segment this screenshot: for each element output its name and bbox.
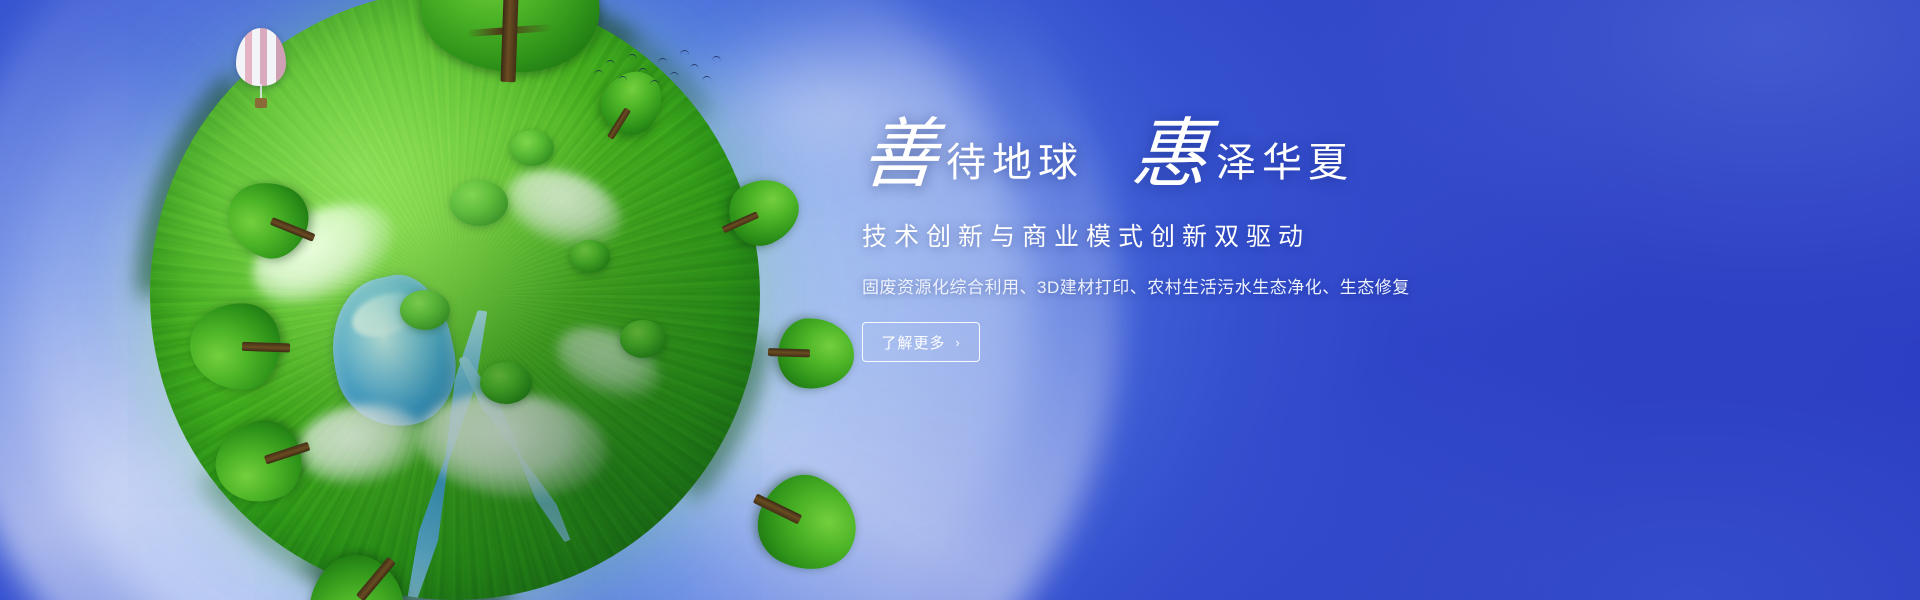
headline-phrase-1: 善 待地球	[862, 120, 1084, 191]
flock-of-birds	[592, 46, 722, 102]
headline-rest-zehuaxia: 泽华夏	[1216, 143, 1354, 191]
tree	[159, 299, 292, 391]
subtitle: 技术创新与商业模式创新双驱动	[862, 217, 1562, 253]
description: 固废资源化综合利用、3D建材打印、农村生活污水生态净化、生态修复	[862, 273, 1562, 298]
hot-air-balloon-icon	[236, 28, 286, 114]
hero-content: 善 待地球 惠 泽华夏 技术创新与商业模式创新双驱动 固废资源化综合利用、3D建…	[862, 120, 1562, 362]
learn-more-label: 了解更多	[881, 332, 945, 353]
headline: 善 待地球 惠 泽华夏	[862, 120, 1562, 191]
chevron-right-icon: ›	[955, 335, 960, 350]
hero-tree	[418, 0, 605, 85]
headline-phrase-2: 惠 泽华夏	[1132, 120, 1354, 191]
headline-char-hui: 惠	[1130, 120, 1211, 191]
hero-banner: 善 待地球 惠 泽华夏 技术创新与商业模式创新双驱动 固废资源化综合利用、3D建…	[0, 0, 1920, 600]
headline-char-shan: 善	[860, 120, 941, 191]
headline-rest-daidiqiu: 待地球	[946, 143, 1084, 191]
learn-more-button[interactable]: 了解更多 ›	[862, 322, 980, 362]
